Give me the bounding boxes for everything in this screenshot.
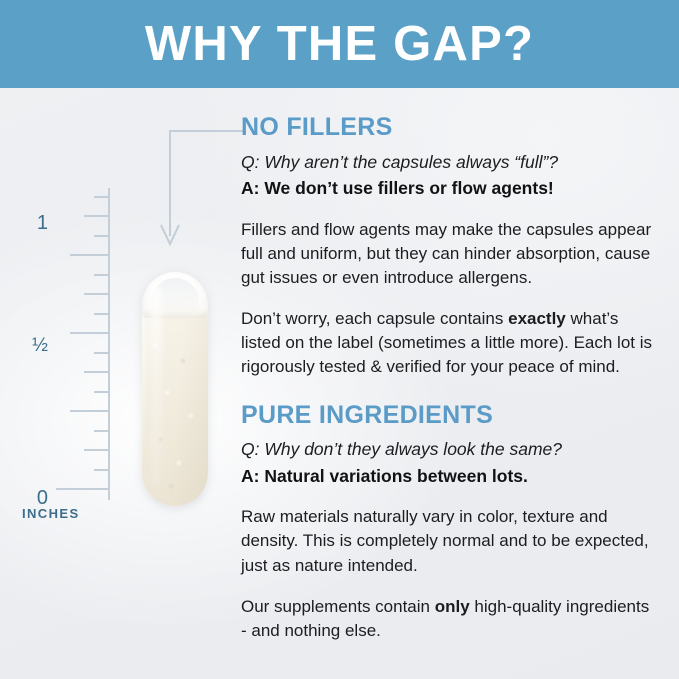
answer-text: A: We don’t use fillers or flow agents!: [241, 177, 659, 201]
body-paragraph: Don’t worry, each capsule contains exact…: [241, 307, 659, 379]
ruler-tick: [84, 371, 110, 373]
body-paragraph: Fillers and flow agents may make the cap…: [241, 218, 659, 290]
ruler-tick: [94, 274, 110, 276]
ruler-tick: [94, 313, 110, 315]
plain-text: Our supplements contain: [241, 597, 435, 616]
plain-text: Fillers and flow agents may make the cap…: [241, 220, 651, 287]
ruler-tick: [94, 196, 110, 198]
ruler-tick: [94, 469, 110, 471]
header-banner: WHY THE GAP?: [0, 0, 679, 88]
ruler-tick: [56, 488, 110, 490]
content-column: NO FILLERS Q: Why aren’t the capsules al…: [241, 114, 659, 643]
ruler-tick: [70, 254, 110, 256]
question-text: Q: Why don’t they always look the same?: [241, 438, 659, 462]
arrow-icon: [160, 124, 244, 254]
question-text: Q: Why aren’t the capsules always “full”…: [241, 151, 659, 175]
section-no-fillers: NO FILLERS Q: Why aren’t the capsules al…: [241, 114, 659, 380]
ruler-tick: [70, 332, 110, 334]
ruler-label-zero: 0: [37, 488, 48, 508]
section-pure-ingredients: PURE INGREDIENTS Q: Why don’t they alway…: [241, 402, 659, 643]
ruler-tick: [94, 430, 110, 432]
capsule-highlight: [151, 286, 162, 486]
ruler-tick: [84, 449, 110, 451]
body-paragraph: Our supplements contain only high-qualit…: [241, 595, 659, 643]
body-paragraph: Raw materials naturally vary in color, t…: [241, 505, 659, 577]
ruler-tick: [94, 352, 110, 354]
ruler-tick: [84, 215, 110, 217]
ruler-unit-label: INCHES: [22, 506, 80, 521]
ruler-label-half: ½: [32, 336, 48, 355]
illustration-panel: 1 ½ 0 INCHES: [0, 88, 235, 679]
infographic-page: WHY THE GAP? 1 ½ 0 INCHES: [0, 0, 679, 679]
ruler-tick: [94, 235, 110, 237]
ruler-tick: [70, 410, 110, 412]
plain-text: Raw materials naturally vary in color, t…: [241, 507, 649, 574]
inch-ruler: 1 ½ 0: [30, 188, 110, 500]
page-title: WHY THE GAP?: [145, 20, 534, 69]
answer-text: A: Natural variations between lots.: [241, 465, 659, 489]
section-heading: PURE INGREDIENTS: [241, 402, 659, 430]
ruler-label-one: 1: [37, 213, 48, 233]
emphasis-text: only: [435, 597, 470, 616]
ruler-tick: [84, 293, 110, 295]
capsule-image: [142, 272, 208, 506]
plain-text: Don’t worry, each capsule contains: [241, 309, 508, 328]
section-heading: NO FILLERS: [241, 114, 659, 142]
ruler-tick: [94, 391, 110, 393]
emphasis-text: exactly: [508, 309, 566, 328]
capsule-body: [142, 272, 208, 506]
